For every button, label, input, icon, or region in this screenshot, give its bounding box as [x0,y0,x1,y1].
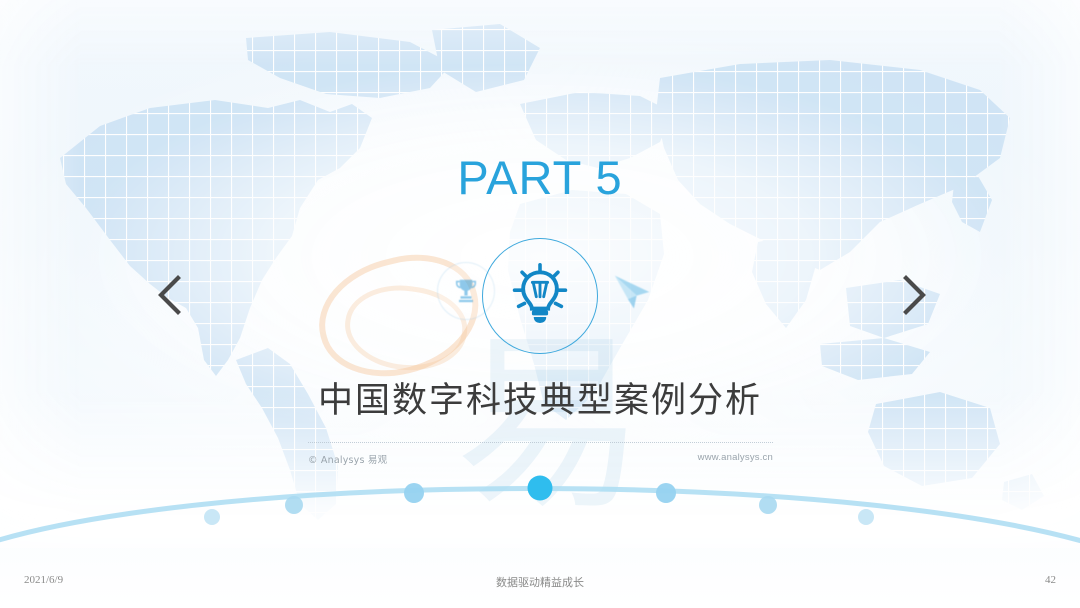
progress-dot-active [528,476,553,501]
progress-dots [204,476,874,526]
progress-dot [858,509,874,525]
section-title: 中国数字科技典型案例分析 [0,372,1080,423]
previous-slide-button[interactable] [148,272,192,318]
progress-dot [285,496,303,514]
paper-plane-icon [604,266,662,318]
chevron-right-icon [899,274,929,316]
part-label: PART 5 [0,150,1080,205]
slide-footer: 2021/6/9 数据驱动精益成长 42 [0,574,1080,596]
credit-divider [308,442,773,443]
progress-dot [404,483,424,503]
lightbulb-icon-circle [482,238,598,354]
progress-dot [656,483,676,503]
progress-dot [204,509,220,525]
footer-page-number: 42 [1045,574,1056,586]
next-slide-button[interactable] [892,272,936,318]
progress-arc [0,455,1080,565]
lightbulb-icon [503,259,577,333]
footer-center-text: 数据驱动精益成长 [0,574,1080,590]
presentation-slide: 易 PART 5 [0,0,1080,608]
progress-dot [759,496,777,514]
chevron-left-icon [155,274,185,316]
